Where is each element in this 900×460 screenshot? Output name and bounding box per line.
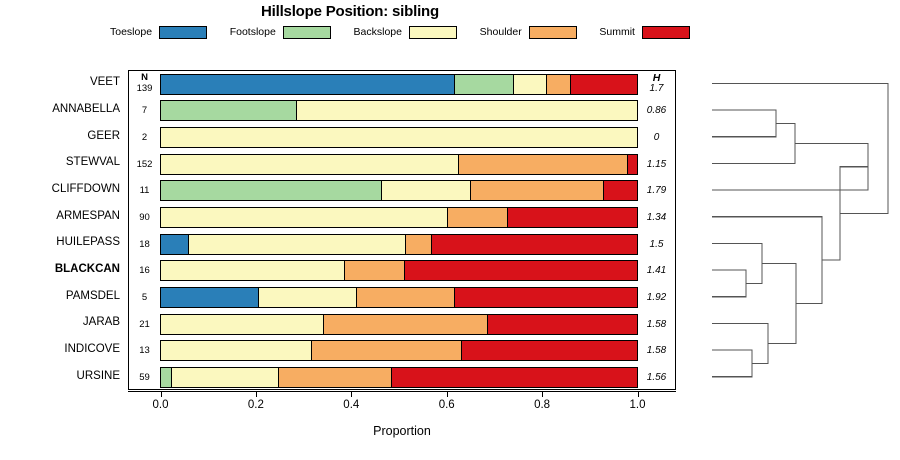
legend-swatch-backslope (409, 26, 457, 39)
bar-segment-shoulder[interactable] (278, 368, 391, 387)
stacked-bar[interactable] (160, 260, 638, 281)
bar-segment-toeslope[interactable] (161, 288, 258, 307)
y-axis-label-indicove: INDICOVE (0, 343, 124, 355)
n-value: 7 (129, 105, 160, 116)
n-value: 2 (129, 132, 160, 143)
chart-title: Hillslope Position: sibling (0, 3, 700, 20)
bar-segment-toeslope[interactable] (161, 235, 188, 254)
bar-segment-summit[interactable] (603, 181, 637, 200)
h-value: 1.5 (638, 239, 675, 250)
h-value: 0 (638, 132, 675, 143)
y-axis-label-blackcan: BLACKCAN (0, 263, 124, 275)
bar-segment-backslope[interactable] (258, 288, 357, 307)
x-axis-title: Proportion (128, 424, 676, 438)
legend-item-summit[interactable]: Summit (599, 26, 690, 39)
y-axis-label-stewval: STEWVAL (0, 156, 124, 168)
legend-item-shoulder[interactable]: Shoulder (480, 26, 577, 39)
n-value: 11 (129, 185, 160, 196)
dendrogram-svg (700, 70, 896, 390)
bar-segment-shoulder[interactable] (356, 288, 454, 307)
stacked-bar[interactable] (160, 100, 638, 121)
chart-row: N139H1.7 (129, 71, 675, 98)
bar-segment-summit[interactable] (431, 235, 637, 254)
x-tick (542, 391, 543, 397)
y-axis-label-huilepass: HUILEPASS (0, 236, 124, 248)
y-axis-label-armespan: ARMESPAN (0, 210, 124, 222)
legend-label-shoulder: Shoulder (480, 26, 522, 38)
n-value: 152 (129, 159, 160, 170)
stacked-bar[interactable] (160, 367, 638, 388)
bar-segment-summit[interactable] (627, 155, 637, 174)
bar-segment-shoulder[interactable] (323, 315, 487, 334)
stacked-bar[interactable] (160, 287, 638, 308)
chart-row: 211.58 (129, 311, 675, 338)
bar-segment-summit[interactable] (404, 261, 637, 280)
n-header: N (129, 72, 160, 83)
n-value: 59 (129, 372, 160, 383)
chart-row: 70.86 (129, 98, 675, 125)
h-value: 1.79 (638, 185, 675, 196)
y-axis-labels: VEETANNABELLAGEERSTEWVALCLIFFDOWNARMESPA… (0, 70, 124, 390)
legend-label-summit: Summit (599, 26, 635, 38)
legend-label-toeslope: Toeslope (110, 26, 152, 38)
n-value: 16 (129, 265, 160, 276)
legend-item-backslope[interactable]: Backslope (354, 26, 457, 39)
legend-label-footslope: Footslope (230, 26, 276, 38)
legend-swatch-shoulder (529, 26, 577, 39)
bar-segment-footslope[interactable] (161, 368, 171, 387)
legend-swatch-footslope (283, 26, 331, 39)
n-value: 18 (129, 239, 160, 250)
stacked-bar[interactable] (160, 234, 638, 255)
stacked-bar[interactable] (160, 74, 638, 95)
legend-swatch-toeslope (159, 26, 207, 39)
h-value: 1.56 (638, 372, 675, 383)
stacked-bar[interactable] (160, 207, 638, 228)
x-tick-label: 0.0 (153, 399, 169, 411)
bar-segment-backslope[interactable] (161, 341, 311, 360)
bar-segment-summit[interactable] (570, 75, 637, 94)
bar-segment-backslope[interactable] (161, 315, 323, 334)
n-value: 139 (129, 83, 160, 94)
legend-swatch-summit (642, 26, 690, 39)
bar-segment-shoulder[interactable] (546, 75, 570, 94)
h-value: 1.15 (638, 159, 675, 170)
bar-segment-toeslope[interactable] (161, 75, 454, 94)
chart-row: 181.5 (129, 231, 675, 258)
bar-segment-summit[interactable] (461, 341, 637, 360)
x-tick (256, 391, 257, 397)
x-tick-label: 0.6 (439, 399, 455, 411)
y-axis-label-ursine: URSINE (0, 370, 124, 382)
bar-segment-shoulder[interactable] (344, 261, 404, 280)
chart-row: 131.58 (129, 338, 675, 365)
bar-segment-footslope[interactable] (454, 75, 513, 94)
bar-segment-shoulder[interactable] (311, 341, 461, 360)
h-value: 1.58 (638, 319, 675, 330)
bar-segment-summit[interactable] (507, 208, 637, 227)
chart-root: Hillslope Position: sibling Toeslope Foo… (0, 0, 900, 460)
legend-label-backslope: Backslope (354, 26, 402, 38)
bar-segment-shoulder[interactable] (447, 208, 507, 227)
chart-row: 51.92 (129, 284, 675, 311)
h-value: 0.86 (638, 105, 675, 116)
n-value: 5 (129, 292, 160, 303)
h-value: 1.41 (638, 265, 675, 276)
stacked-bar[interactable] (160, 340, 638, 361)
bar-segment-backslope[interactable] (171, 368, 278, 387)
x-axis-line (128, 391, 676, 392)
y-axis-label-geer: GEER (0, 130, 124, 142)
bar-segment-backslope[interactable] (161, 208, 447, 227)
dendrogram (700, 70, 896, 390)
x-tick-label: 0.4 (343, 399, 359, 411)
chart-row: 161.41 (129, 258, 675, 285)
x-tick (447, 391, 448, 397)
legend: Toeslope Footslope Backslope Shoulder Su… (110, 24, 690, 40)
bar-rows: N139H1.770.86201521.15111.79901.34181.51… (129, 71, 675, 389)
y-axis-label-cliffdown: CLIFFDOWN (0, 183, 124, 195)
h-value: 1.34 (638, 212, 675, 223)
legend-item-footslope[interactable]: Footslope (230, 26, 331, 39)
chart-row: 1521.15 (129, 151, 675, 178)
chart-row: 901.34 (129, 204, 675, 231)
bar-segment-backslope[interactable] (188, 235, 405, 254)
bar-segment-footslope[interactable] (161, 101, 296, 120)
bar-segment-shoulder[interactable] (458, 155, 628, 174)
h-value: 1.7 (638, 83, 675, 94)
bar-segment-summit[interactable] (454, 288, 637, 307)
bar-segment-backslope[interactable] (513, 75, 546, 94)
bar-segment-backslope[interactable] (161, 128, 637, 147)
stacked-bar[interactable] (160, 127, 638, 148)
h-value: 1.58 (638, 345, 675, 356)
x-tick-label: 0.8 (534, 399, 550, 411)
plot-panel: N139H1.770.86201521.15111.79901.34181.51… (128, 70, 676, 390)
y-axis-label-veet: VEET (0, 76, 124, 88)
bar-segment-summit[interactable] (391, 368, 637, 387)
x-tick-label: 1.0 (630, 399, 646, 411)
x-tick (638, 391, 639, 397)
bar-segment-shoulder[interactable] (470, 181, 602, 200)
bar-segment-backslope[interactable] (296, 101, 637, 120)
chart-row: 20 (129, 124, 675, 151)
bar-segment-shoulder[interactable] (405, 235, 431, 254)
y-axis-label-annabella: ANNABELLA (0, 103, 124, 115)
x-tick (161, 391, 162, 397)
y-axis-label-jarab: JARAB (0, 316, 124, 328)
stacked-bar[interactable] (160, 154, 638, 175)
x-tick (351, 391, 352, 397)
n-value: 90 (129, 212, 160, 223)
n-value: 13 (129, 345, 160, 356)
stacked-bar[interactable] (160, 180, 638, 201)
legend-item-toeslope[interactable]: Toeslope (110, 26, 207, 39)
bar-segment-backslope[interactable] (161, 155, 458, 174)
y-axis-label-pamsdel: PAMSDEL (0, 290, 124, 302)
bar-segment-summit[interactable] (487, 315, 637, 334)
chart-row: 591.56 (129, 364, 675, 391)
chart-row: 111.79 (129, 178, 675, 205)
bar-segment-backslope[interactable] (381, 181, 470, 200)
n-value: 21 (129, 319, 160, 330)
bar-segment-backslope[interactable] (161, 261, 344, 280)
stacked-bar[interactable] (160, 314, 638, 335)
x-tick-label: 0.2 (248, 399, 264, 411)
h-value: 1.92 (638, 292, 675, 303)
bar-segment-footslope[interactable] (161, 181, 381, 200)
